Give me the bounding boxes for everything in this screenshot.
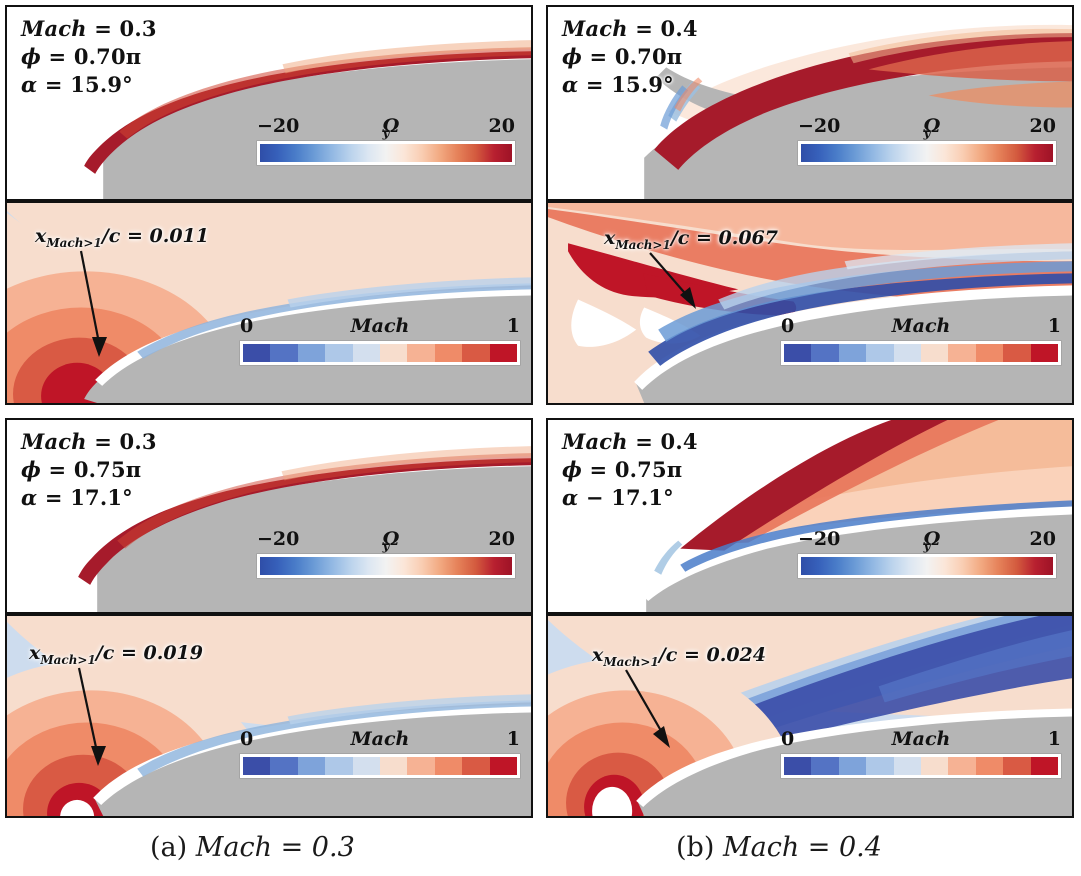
caption-a-text: Mach = 0.3 xyxy=(196,832,355,863)
colorbar-band xyxy=(1003,344,1030,362)
shock-annotation-label: xMach>1/c = 0.067 xyxy=(604,227,778,252)
colorbar-min-label: −20 xyxy=(257,528,299,550)
case-mach: Mach = 0.4 xyxy=(562,15,698,43)
case-phi: ϕ = 0.75π xyxy=(562,456,698,484)
colorbar-ticks: 0 Mach 1 xyxy=(240,728,520,754)
case-mach: Mach = 0.3 xyxy=(21,428,157,456)
colorbar-band xyxy=(435,757,462,775)
colorbar-band xyxy=(270,757,297,775)
colorbar-gradient xyxy=(798,141,1056,165)
colorbar-band xyxy=(298,757,325,775)
colorbar-band xyxy=(298,344,325,362)
colorbar-title: Mach xyxy=(351,728,410,750)
case-alpha: α = 17.1° xyxy=(21,484,157,512)
vorticity-colorbar: −20 Ωy 20 xyxy=(798,115,1056,165)
figure-root: Mach = 0.3 ϕ = 0.70π α = 15.9° −20 Ωy 20 xyxy=(0,0,1081,876)
colorbar-band xyxy=(894,344,921,362)
colorbar-band xyxy=(1031,344,1058,362)
colorbar-band xyxy=(270,344,297,362)
mach-colorbar: 0 Mach 1 xyxy=(781,315,1061,365)
colorbar-band xyxy=(811,757,838,775)
colorbar-band xyxy=(325,757,352,775)
colorbar-ticks: 0 Mach 1 xyxy=(781,315,1061,341)
colorbar-ticks: 0 Mach 1 xyxy=(240,315,520,341)
colorbar-band xyxy=(948,757,975,775)
colorbar-band xyxy=(921,344,948,362)
colorbar-min-label: 0 xyxy=(240,315,253,337)
mach-subpanel: xMach>1/c = 0.019 0 Mach 1 xyxy=(5,614,533,818)
colorbar-title: Mach xyxy=(892,315,951,337)
colorbar-gradient xyxy=(798,554,1056,578)
colorbar-band xyxy=(462,344,489,362)
colorbar-max-label: 20 xyxy=(1030,528,1056,550)
colorbar-band xyxy=(784,344,811,362)
colorbar-min-label: −20 xyxy=(798,528,840,550)
colorbar-band xyxy=(976,344,1003,362)
mach-subpanel: xMach>1/c = 0.024 0 Mach 1 xyxy=(546,614,1074,818)
case-info: Mach = 0.3 ϕ = 0.75π α = 17.1° xyxy=(21,428,157,512)
colorbar-band xyxy=(353,757,380,775)
colorbar-band xyxy=(243,757,270,775)
colorbar-band xyxy=(435,344,462,362)
colorbar-ticks: −20 Ωy 20 xyxy=(798,528,1056,554)
colorbar-title: Ωy xyxy=(924,115,931,140)
shock-arrow-icon xyxy=(620,666,690,756)
vorticity-colorbar: −20 Ωy 20 xyxy=(798,528,1056,578)
colorbar-title: Ωy xyxy=(383,115,390,140)
colorbar-band xyxy=(462,757,489,775)
colorbar-band xyxy=(811,344,838,362)
colorbar-bands xyxy=(781,341,1061,365)
panel-mach03-phi075: Mach = 0.3 ϕ = 0.75π α = 17.1° −20 Ωy 20 xyxy=(5,418,533,818)
colorbar-gradient xyxy=(257,141,515,165)
colorbar-band xyxy=(976,757,1003,775)
shock-annotation-label: xMach>1/c = 0.011 xyxy=(35,225,209,250)
colorbar-max-label: 20 xyxy=(489,528,515,550)
panel-mach04-phi070: Mach = 0.4 ϕ = 0.70π α = 15.9° −20 Ωy 20 xyxy=(546,5,1074,405)
colorbar-title: Mach xyxy=(892,728,951,750)
colorbar-max-label: 1 xyxy=(507,728,520,750)
colorbar-band xyxy=(325,344,352,362)
colorbar-band xyxy=(1031,757,1058,775)
mach-subpanel: xMach>1/c = 0.011 0 Mach 1 xyxy=(5,201,533,405)
colorbar-band xyxy=(866,344,893,362)
vorticity-subpanel: Mach = 0.3 ϕ = 0.75π α = 17.1° −20 Ωy 20 xyxy=(5,418,533,614)
vorticity-colorbar: −20 Ωy 20 xyxy=(257,528,515,578)
case-phi: ϕ = 0.70π xyxy=(21,43,157,71)
vorticity-subpanel: Mach = 0.4 ϕ = 0.75π α − 17.1° −20 Ωy 20 xyxy=(546,418,1074,614)
case-mach: Mach = 0.4 xyxy=(562,428,698,456)
mach-subpanel: xMach>1/c = 0.067 0 Mach 1 xyxy=(546,201,1074,405)
caption-b-text: Mach = 0.4 xyxy=(723,832,882,863)
colorbar-band xyxy=(1003,757,1030,775)
mach-colorbar: 0 Mach 1 xyxy=(240,315,520,365)
colorbar-min-label: 0 xyxy=(240,728,253,750)
vorticity-colorbar: −20 Ωy 20 xyxy=(257,115,515,165)
colorbar-min-label: 0 xyxy=(781,728,794,750)
colorbar-band xyxy=(407,757,434,775)
colorbar-title: Ωy xyxy=(924,528,931,553)
colorbar-ticks: −20 Ωy 20 xyxy=(257,528,515,554)
colorbar-ticks: 0 Mach 1 xyxy=(781,728,1061,754)
case-info: Mach = 0.4 ϕ = 0.70π α = 15.9° xyxy=(562,15,698,99)
colorbar-bands xyxy=(240,341,520,365)
mach-colorbar: 0 Mach 1 xyxy=(781,728,1061,778)
colorbar-max-label: 20 xyxy=(1030,115,1056,137)
colorbar-title: Ωy xyxy=(383,528,390,553)
panel-mach03-phi070: Mach = 0.3 ϕ = 0.70π α = 15.9° −20 Ωy 20 xyxy=(5,5,533,405)
vorticity-subpanel: Mach = 0.3 ϕ = 0.70π α = 15.9° −20 Ωy 20 xyxy=(5,5,533,201)
colorbar-band xyxy=(490,757,517,775)
colorbar-min-label: −20 xyxy=(257,115,299,137)
colorbar-max-label: 1 xyxy=(507,315,520,337)
shock-arrow-icon xyxy=(644,249,714,317)
colorbar-ticks: −20 Ωy 20 xyxy=(257,115,515,141)
case-alpha: α − 17.1° xyxy=(562,484,698,512)
colorbar-title: Mach xyxy=(351,315,410,337)
colorbar-band xyxy=(380,757,407,775)
colorbar-band xyxy=(490,344,517,362)
vorticity-subpanel: Mach = 0.4 ϕ = 0.70π α = 15.9° −20 Ωy 20 xyxy=(546,5,1074,201)
colorbar-gradient xyxy=(257,554,515,578)
colorbar-max-label: 20 xyxy=(489,115,515,137)
case-phi: ϕ = 0.75π xyxy=(21,456,157,484)
case-mach: Mach = 0.3 xyxy=(21,15,157,43)
case-phi: ϕ = 0.70π xyxy=(562,43,698,71)
case-alpha: α = 15.9° xyxy=(21,71,157,99)
colorbar-band xyxy=(921,757,948,775)
colorbar-band xyxy=(784,757,811,775)
colorbar-band xyxy=(407,344,434,362)
colorbar-band xyxy=(866,757,893,775)
colorbar-band xyxy=(353,344,380,362)
caption-b-tag: (b) xyxy=(676,832,714,863)
case-info: Mach = 0.3 ϕ = 0.70π α = 15.9° xyxy=(21,15,157,99)
caption-a: (a) Mach = 0.3 xyxy=(150,832,355,863)
mach-colorbar: 0 Mach 1 xyxy=(240,728,520,778)
colorbar-ticks: −20 Ωy 20 xyxy=(798,115,1056,141)
colorbar-max-label: 1 xyxy=(1048,315,1061,337)
colorbar-band xyxy=(839,757,866,775)
colorbar-max-label: 1 xyxy=(1048,728,1061,750)
shock-annotation-label: xMach>1/c = 0.019 xyxy=(29,642,203,667)
colorbar-bands xyxy=(240,754,520,778)
colorbar-min-label: 0 xyxy=(781,315,794,337)
shock-arrow-icon xyxy=(65,664,125,770)
case-alpha: α = 15.9° xyxy=(562,71,698,99)
caption-a-tag: (a) xyxy=(150,832,187,863)
case-info: Mach = 0.4 ϕ = 0.75π α − 17.1° xyxy=(562,428,698,512)
colorbar-band xyxy=(839,344,866,362)
panel-mach04-phi075: Mach = 0.4 ϕ = 0.75π α − 17.1° −20 Ωy 20 xyxy=(546,418,1074,818)
shock-annotation-label: xMach>1/c = 0.024 xyxy=(592,644,766,669)
colorbar-band xyxy=(894,757,921,775)
colorbar-bands xyxy=(781,754,1061,778)
colorbar-band xyxy=(380,344,407,362)
colorbar-min-label: −20 xyxy=(798,115,840,137)
colorbar-band xyxy=(243,344,270,362)
caption-b: (b) Mach = 0.4 xyxy=(676,832,882,863)
colorbar-band xyxy=(948,344,975,362)
shock-arrow-icon xyxy=(67,247,127,362)
